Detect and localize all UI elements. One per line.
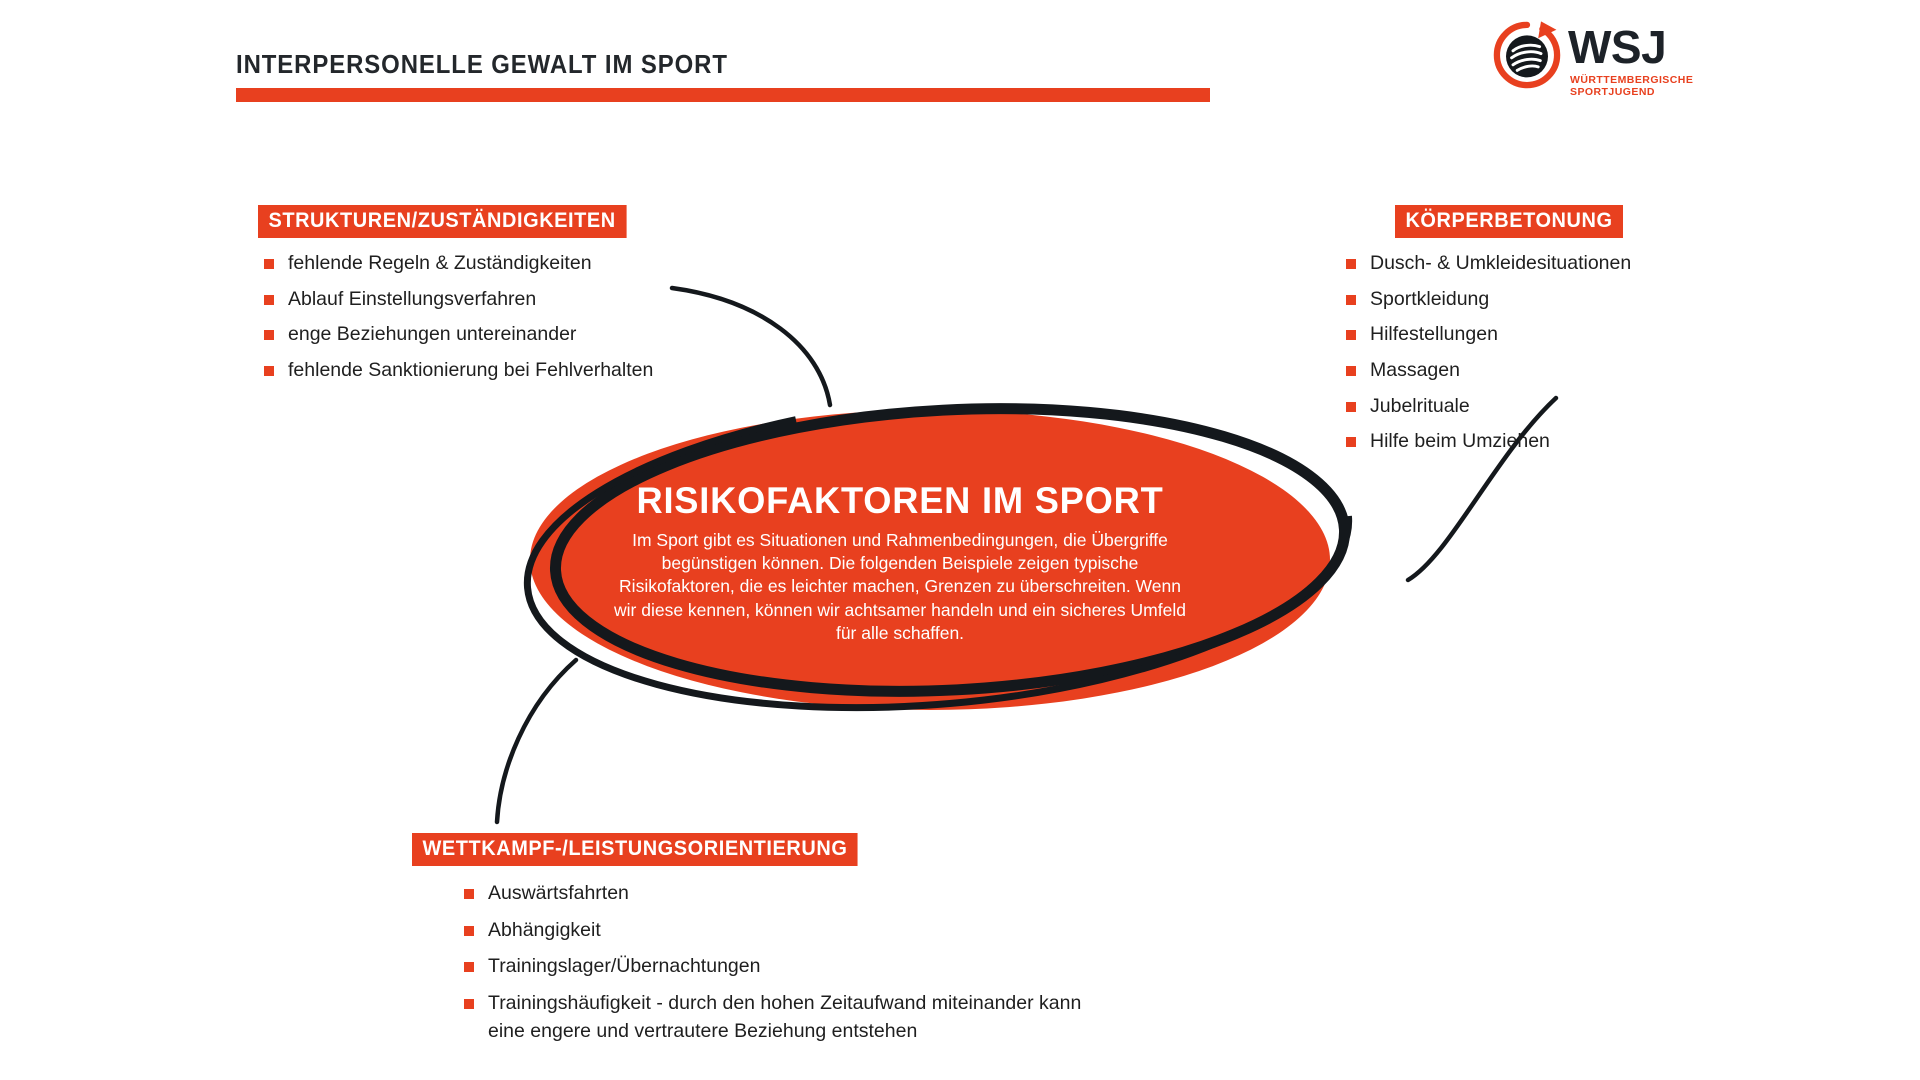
section-body-focus-label: KÖRPERBETONUNG: [1395, 205, 1623, 238]
list-item: Hilfe beim Umziehen: [1340, 428, 1770, 456]
list-item: Hilfestellungen: [1340, 321, 1770, 349]
section-competition: WETTKAMPF-/LEISTUNGSORIENTIERUNG Auswärt…: [412, 833, 1112, 1054]
center-paragraph: Im Sport gibt es Situationen und Rahmenb…: [610, 529, 1190, 645]
section-competition-list: Auswärtsfahrten Abhängigkeit Trainingsla…: [458, 880, 1112, 1045]
section-competition-label: WETTKAMPF-/LEISTUNGSORIENTIERUNG: [412, 833, 858, 866]
list-item: Sportkleidung: [1340, 286, 1770, 314]
list-item: Jubelrituale: [1340, 393, 1770, 421]
section-structures: STRUKTUREN/ZUSTÄNDIGKEITEN fehlende Rege…: [258, 205, 778, 393]
center-text-block: RISIKOFAKTOREN IM SPORT Im Sport gibt es…: [580, 482, 1220, 645]
center-ellipse-group: RISIKOFAKTOREN IM SPORT Im Sport gibt es…: [520, 400, 1400, 730]
list-item: Abhängigkeit: [458, 917, 1112, 945]
list-item: Ablauf Einstellungsverfahren: [258, 286, 778, 314]
list-item: Auswärtsfahrten: [458, 880, 1112, 908]
list-item: enge Beziehungen untereinander: [258, 321, 778, 349]
list-item: fehlende Regeln & Zuständigkeiten: [258, 250, 778, 278]
list-item: Trainingshäufigkeit - durch den hohen Ze…: [458, 990, 1112, 1045]
section-structures-list: fehlende Regeln & Zuständigkeiten Ablauf…: [258, 250, 778, 385]
list-item: Dusch- & Umkleidesituationen: [1340, 250, 1770, 278]
section-body-focus: KÖRPERBETONUNG Dusch- & Umkleidesituatio…: [1340, 205, 1770, 464]
list-item: Trainingslager/Übernachtungen: [458, 953, 1112, 981]
section-structures-label: STRUKTUREN/ZUSTÄNDIGKEITEN: [258, 205, 626, 238]
list-item: fehlende Sanktionierung bei Fehlverhalte…: [258, 357, 778, 385]
section-body-focus-list: Dusch- & Umkleidesituationen Sportkleidu…: [1340, 250, 1770, 456]
center-heading: RISIKOFAKTOREN IM SPORT: [586, 482, 1213, 521]
infographic-canvas: INTERPERSONELLE GEWALT IM SPORT WSJ WÜRT…: [0, 0, 1920, 1080]
list-item: Massagen: [1340, 357, 1770, 385]
